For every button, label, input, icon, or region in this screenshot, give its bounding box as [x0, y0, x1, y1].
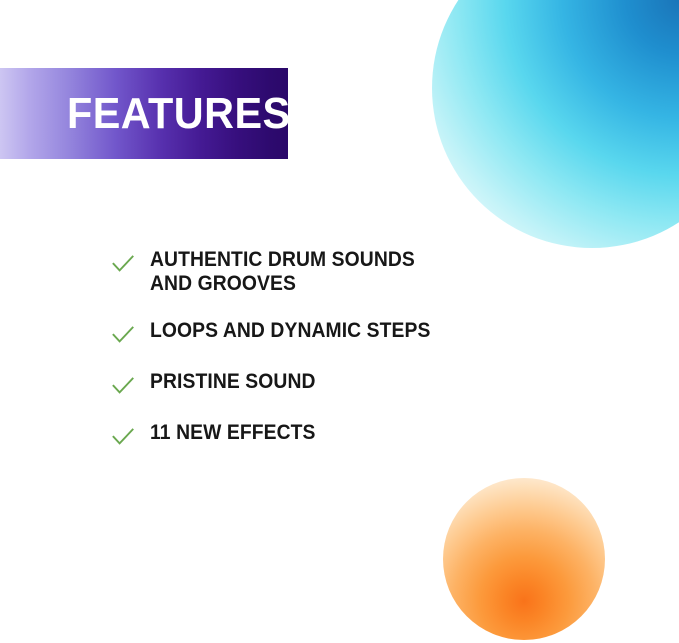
feature-item-label: LOOPS AND DYNAMIC STEPS [150, 319, 430, 343]
check-icon [110, 373, 136, 399]
features-banner-title: FEATURES [67, 92, 291, 136]
orange-gradient-blob [443, 478, 605, 640]
feature-item-label: AUTHENTIC DRUM SOUNDS AND GROOVES [150, 248, 415, 297]
list-item: 11 NEW EFFECTS [110, 421, 580, 450]
feature-list: AUTHENTIC DRUM SOUNDS AND GROOVES LOOPS … [110, 248, 580, 450]
check-icon [110, 424, 136, 450]
list-item: LOOPS AND DYNAMIC STEPS [110, 319, 580, 348]
blue-gradient-blob [432, 0, 679, 248]
list-item: AUTHENTIC DRUM SOUNDS AND GROOVES [110, 248, 580, 297]
feature-highlight-page: FEATURES AUTHENTIC DRUM SOUNDS AND GROOV… [0, 0, 679, 643]
check-icon [110, 322, 136, 348]
features-banner: FEATURES [0, 68, 288, 159]
list-item: PRISTINE SOUND [110, 370, 580, 399]
feature-item-label: 11 NEW EFFECTS [150, 421, 316, 445]
check-icon [110, 251, 136, 277]
feature-item-label: PRISTINE SOUND [150, 370, 316, 394]
